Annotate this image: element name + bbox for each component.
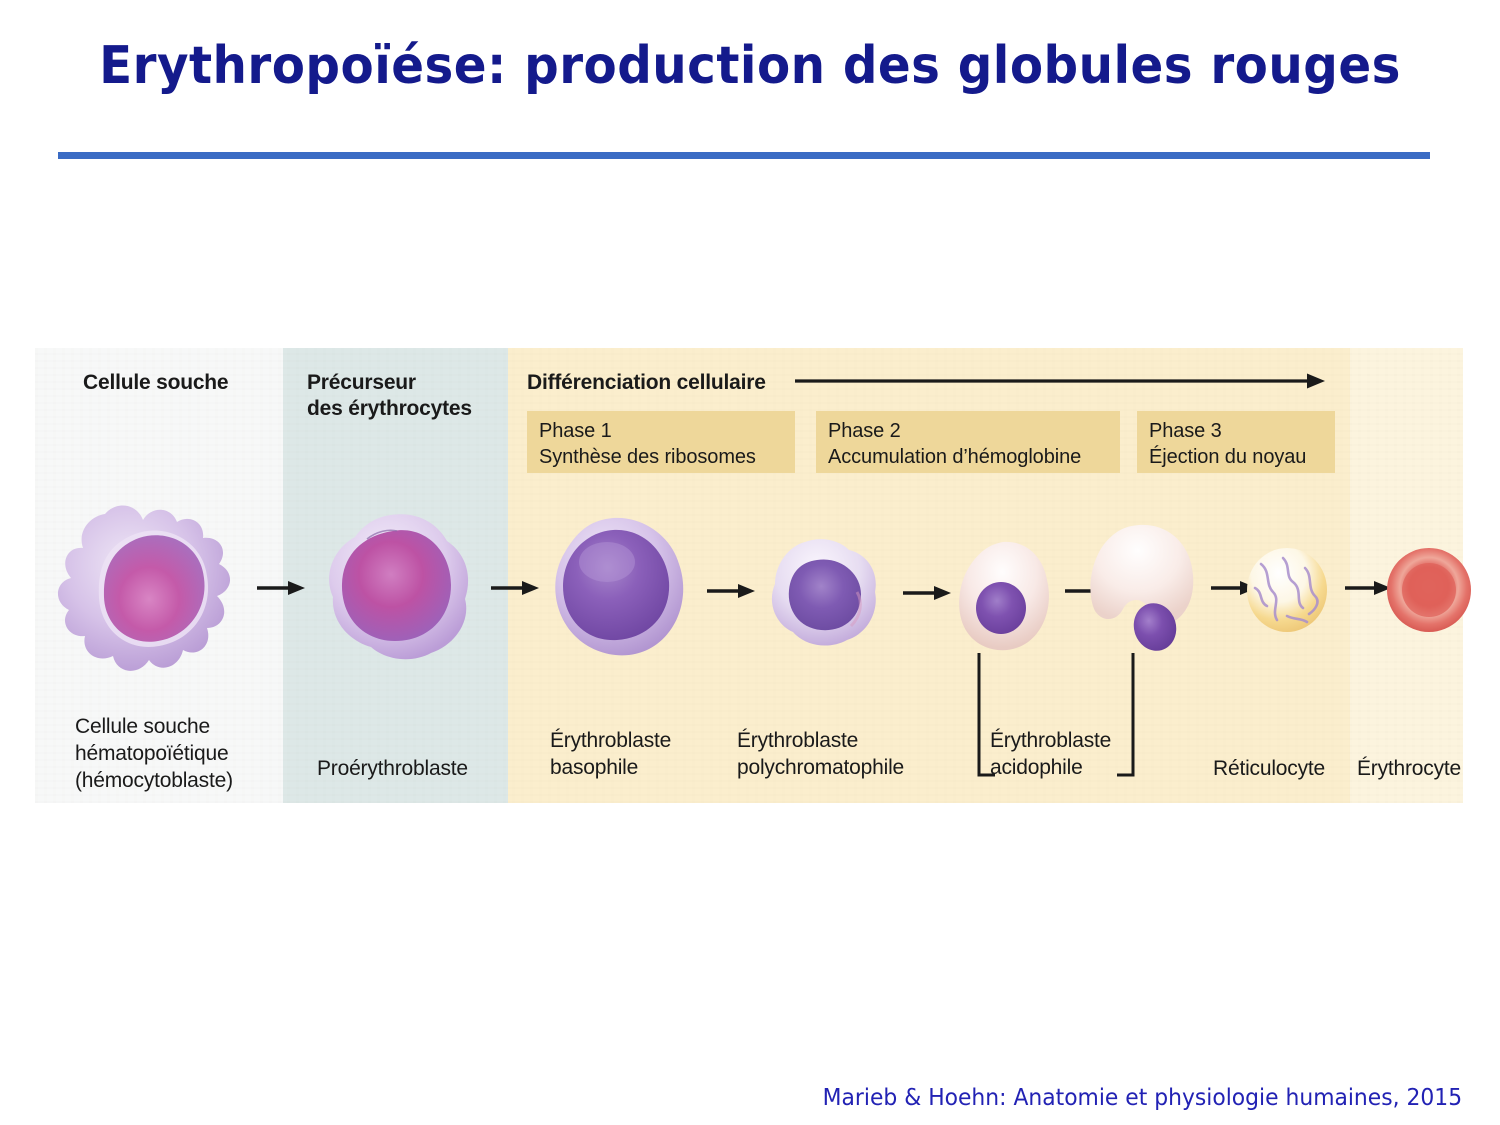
cell-polychromatophilic-erythroblast bbox=[765, 536, 883, 652]
label-acidophile-line2: acidophile bbox=[990, 755, 1111, 782]
label-proerythroblast-line1: Proérythroblaste bbox=[317, 756, 468, 783]
label-stem-line3: (hémocytoblaste) bbox=[75, 768, 233, 795]
cell-acidophilic-erythroblast-1 bbox=[955, 540, 1055, 656]
phase-box-3: Phase 3 Éjection du noyau bbox=[1137, 411, 1335, 473]
label-acidophile-line1: Érythroblaste bbox=[990, 728, 1111, 755]
phase-box-2: Phase 2 Accumulation d’hémoglobine bbox=[816, 411, 1120, 473]
cell-hematopoietic-stem-cell bbox=[47, 498, 257, 683]
stage-arrow-4-icon bbox=[903, 585, 951, 601]
phase-2-text: Accumulation d’hémoglobine bbox=[828, 444, 1110, 470]
phase-1-number: Phase 1 bbox=[539, 418, 785, 444]
cell-basophilic-erythroblast bbox=[547, 516, 689, 662]
phase-3-text: Éjection du noyau bbox=[1149, 444, 1325, 470]
label-proerythroblast: Proérythroblaste bbox=[317, 756, 468, 783]
label-polychromatophilic-erythroblast: Érythroblaste polychromatophile bbox=[737, 728, 904, 782]
label-polychromatophile-line1: Érythroblaste bbox=[737, 728, 904, 755]
erythropoiesis-diagram: Cellule souche Précurseur des érythrocyt… bbox=[35, 348, 1463, 803]
differentiation-arrow-icon bbox=[795, 372, 1325, 390]
title-divider bbox=[58, 152, 1430, 159]
label-reticulocyte: Réticulocyte bbox=[1213, 756, 1325, 783]
stage-arrow-1-icon bbox=[257, 580, 305, 596]
label-basophilic-erythroblast: Érythroblaste basophile bbox=[550, 728, 671, 782]
header-stem-cell-line1: Cellule souche bbox=[83, 370, 228, 396]
label-stem-line2: hématopoïétique bbox=[75, 741, 233, 768]
header-differentiation: Différenciation cellulaire bbox=[527, 370, 766, 396]
page-title: Erythropoïése: production des globules r… bbox=[53, 36, 1448, 96]
label-basophile-line2: basophile bbox=[550, 755, 671, 782]
phase-1-text: Synthèse des ribosomes bbox=[539, 444, 785, 470]
phase-2-number: Phase 2 bbox=[828, 418, 1110, 444]
header-precursor-line1: Précurseur bbox=[307, 370, 472, 396]
stage-arrow-2-icon bbox=[491, 580, 539, 596]
label-reticulocyte-line1: Réticulocyte bbox=[1213, 756, 1325, 783]
cell-erythrocyte bbox=[1383, 544, 1475, 636]
stage-arrow-3-icon bbox=[707, 583, 755, 599]
source-citation: Marieb & Hoehn: Anatomie et physiologie … bbox=[823, 1085, 1462, 1111]
label-stem-line1: Cellule souche bbox=[75, 714, 233, 741]
phase-box-1: Phase 1 Synthèse des ribosomes bbox=[527, 411, 795, 473]
header-precursor-line2: des érythrocytes bbox=[307, 396, 472, 422]
cell-proerythroblast bbox=[321, 511, 473, 663]
header-differentiation-line1: Différenciation cellulaire bbox=[527, 370, 766, 396]
phase-3-number: Phase 3 bbox=[1149, 418, 1325, 444]
label-polychromatophile-line2: polychromatophile bbox=[737, 755, 904, 782]
label-basophile-line1: Érythroblaste bbox=[550, 728, 671, 755]
label-erythrocyte: Érythrocyte bbox=[1357, 756, 1461, 783]
label-acidophilic-erythroblast: Érythroblaste acidophile bbox=[990, 728, 1111, 782]
label-hematopoietic-stem-cell: Cellule souche hématopoïétique (hémocyto… bbox=[75, 714, 233, 795]
header-stem-cell: Cellule souche bbox=[83, 370, 228, 396]
cell-acidophilic-erythroblast-2 bbox=[1087, 523, 1207, 653]
cell-reticulocyte bbox=[1243, 544, 1331, 636]
header-precursor: Précurseur des érythrocytes bbox=[307, 370, 472, 423]
label-erythrocyte-line1: Érythrocyte bbox=[1357, 756, 1461, 783]
